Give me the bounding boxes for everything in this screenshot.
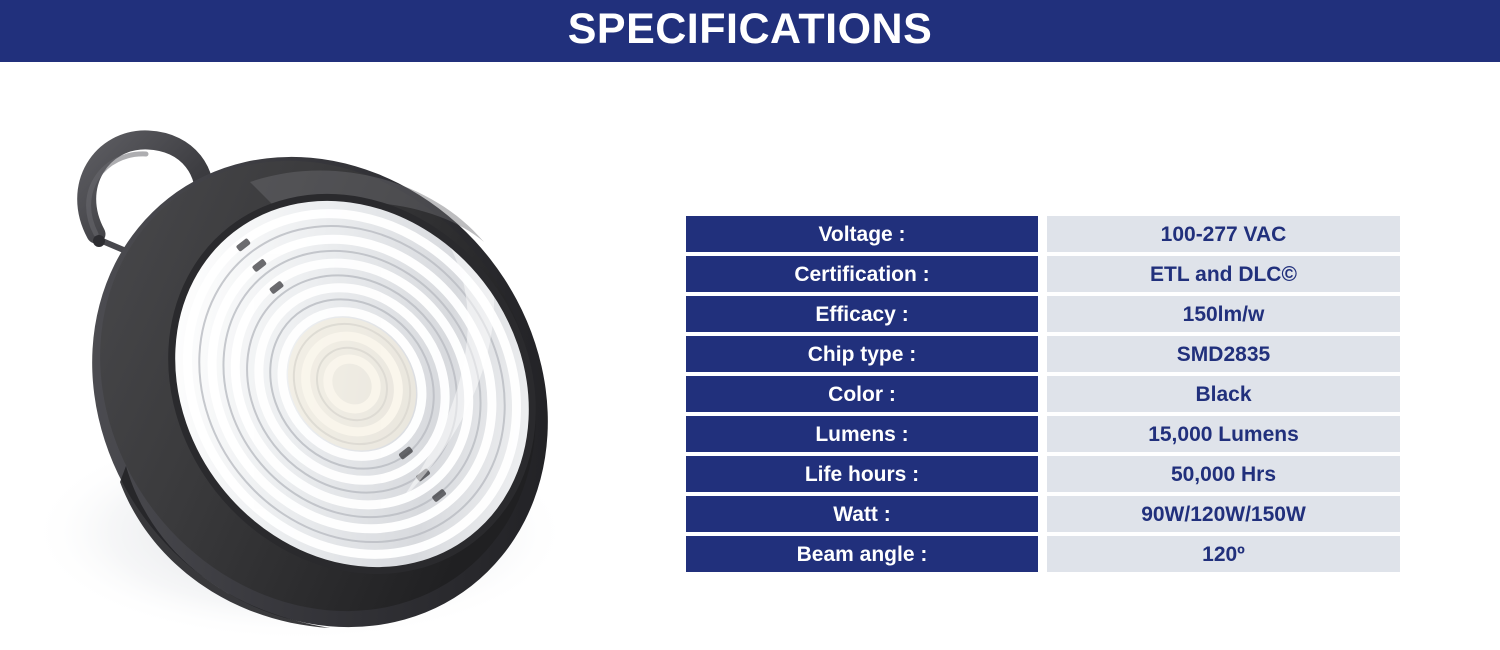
specifications-page: SPECIFICATIONS [0,0,1500,650]
spec-value: 150lm/w [1047,296,1400,332]
led-high-bay-light-image [0,62,680,650]
column-gap [1038,296,1047,332]
spec-value: 50,000 Hrs [1047,456,1400,492]
column-gap [1038,416,1047,452]
table-row: Watt : 90W/120W/150W [686,496,1400,532]
spec-value: SMD2835 [1047,336,1400,372]
column-gap [1038,256,1047,292]
column-gap [1038,456,1047,492]
spec-label: Lumens : [686,416,1038,452]
spec-label: Watt : [686,496,1038,532]
spec-value: 90W/120W/150W [1047,496,1400,532]
spec-label: Certification : [686,256,1038,292]
table-row: Beam angle : 120º [686,536,1400,572]
spec-value: 120º [1047,536,1400,572]
column-gap [1038,216,1047,252]
spec-label: Voltage : [686,216,1038,252]
column-gap [1038,536,1047,572]
table-row: Lumens : 15,000 Lumens [686,416,1400,452]
spec-value: 100-277 VAC [1047,216,1400,252]
table-row: Efficacy : 150lm/w [686,296,1400,332]
page-header: SPECIFICATIONS [0,0,1500,62]
table-row: Life hours : 50,000 Hrs [686,456,1400,492]
spec-label: Chip type : [686,336,1038,372]
table-row: Certification : ETL and DLC© [686,256,1400,292]
spec-label: Color : [686,376,1038,412]
column-gap [1038,336,1047,372]
column-gap [1038,376,1047,412]
spec-label: Efficacy : [686,296,1038,332]
table-row: Voltage : 100-277 VAC [686,216,1400,252]
spec-value: Black [1047,376,1400,412]
spec-label: Life hours : [686,456,1038,492]
table-row: Chip type : SMD2835 [686,336,1400,372]
specifications-table: Voltage : 100-277 VAC Certification : ET… [686,216,1400,572]
spec-value: 15,000 Lumens [1047,416,1400,452]
table-row: Color : Black [686,376,1400,412]
page-title: SPECIFICATIONS [568,8,933,54]
spec-label: Beam angle : [686,536,1038,572]
column-gap [1038,496,1047,532]
spec-value: ETL and DLC© [1047,256,1400,292]
product-image-container [0,62,680,650]
